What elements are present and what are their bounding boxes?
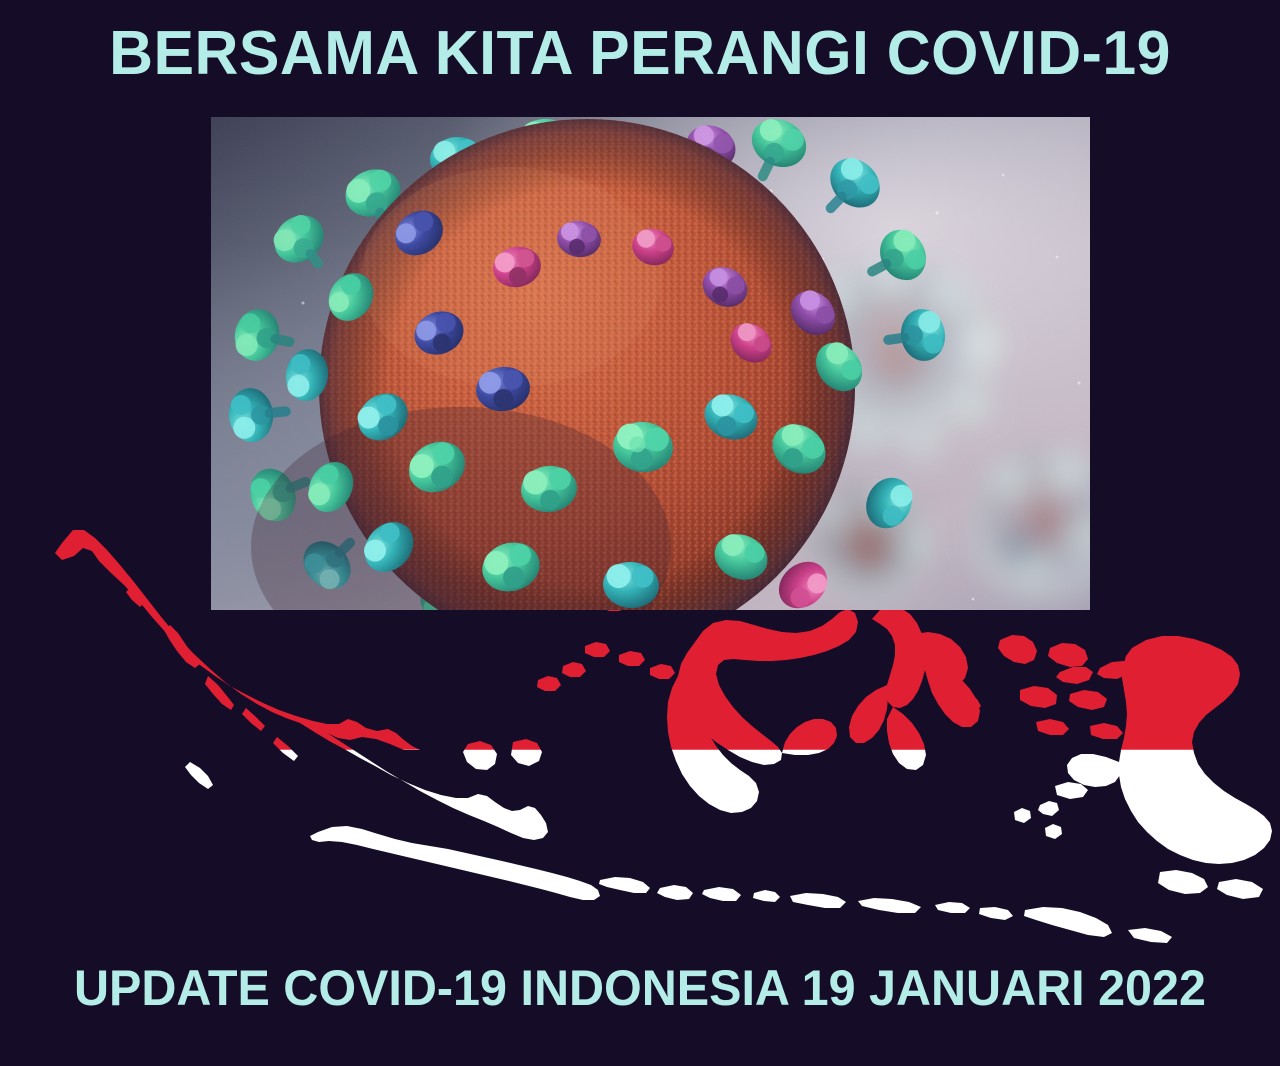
covid-update-poster: BERSAMA KITA PERANGI COVID-19 UPDATE COV… [0, 0, 1280, 1066]
coronavirus-particle-photo [211, 117, 1090, 610]
